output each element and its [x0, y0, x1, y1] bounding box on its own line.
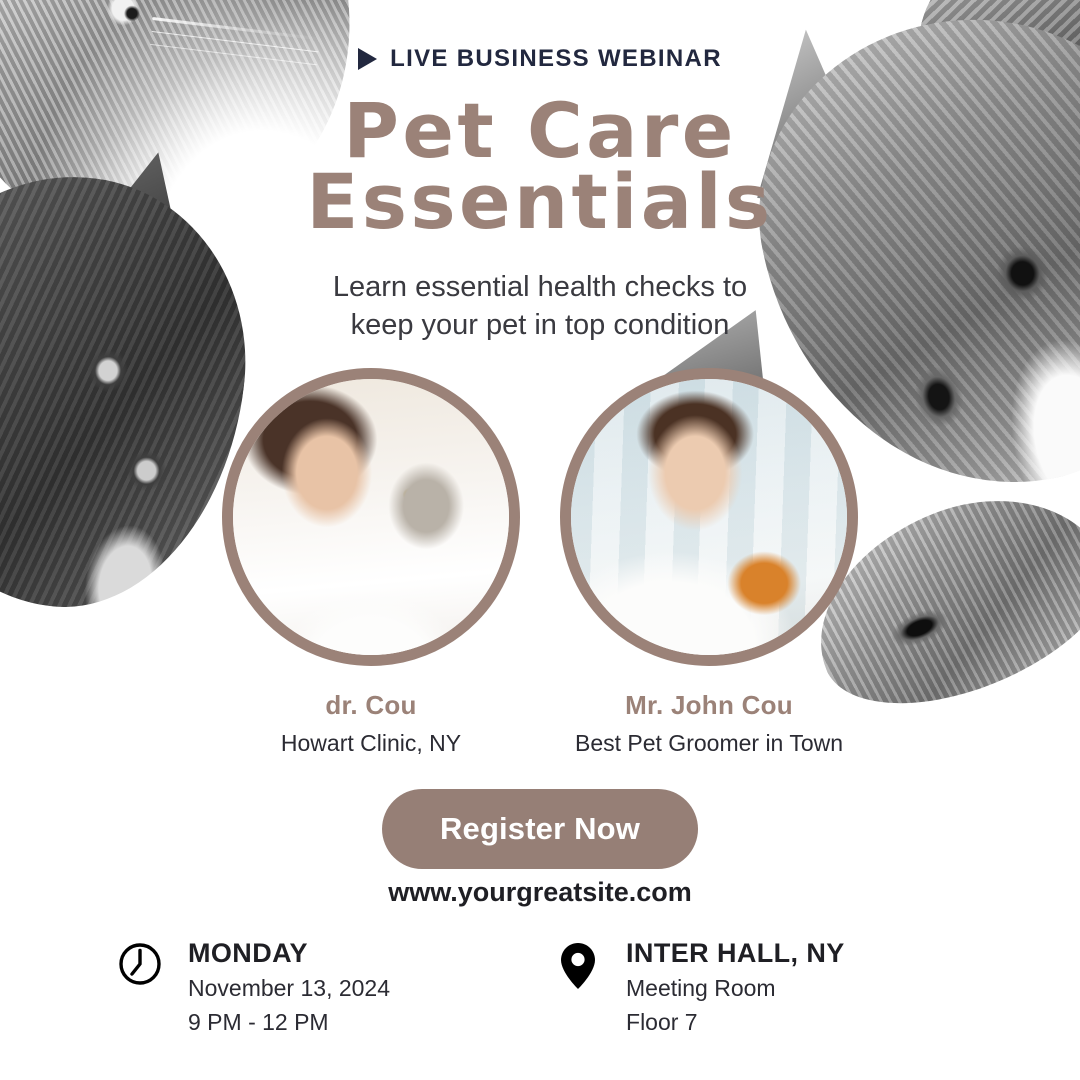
- poster-content: LIVE BUSINESS WEBINAR Pet Care Essential…: [0, 0, 1080, 1080]
- speaker-photo-2: [571, 379, 847, 655]
- subtitle: Learn essential health checks to keep yo…: [0, 268, 1080, 345]
- speaker-role: Best Pet Groomer in Town: [575, 730, 843, 757]
- detail-line-1: November 13, 2024: [188, 974, 390, 1003]
- detail-block-date: MONDAY November 13, 2024 9 PM - 12 PM: [115, 938, 390, 1038]
- speaker-name: dr. Cou: [325, 690, 416, 721]
- detail-heading: MONDAY: [188, 938, 390, 969]
- avatar: [560, 368, 858, 666]
- avatar: [222, 368, 520, 666]
- speaker-card-2: Mr. John Cou Best Pet Groomer in Town: [559, 368, 859, 757]
- title-line-2: Essentials: [306, 157, 773, 246]
- details-row: MONDAY November 13, 2024 9 PM - 12 PM IN…: [0, 938, 1080, 1038]
- speaker-role: Howart Clinic, NY: [281, 730, 461, 757]
- subtitle-line-1: Learn essential health checks to: [333, 271, 747, 303]
- kicker-row: LIVE BUSINESS WEBINAR: [0, 45, 1080, 73]
- speakers-row: dr. Cou Howart Clinic, NY Mr. John Cou B…: [0, 368, 1080, 757]
- register-now-button[interactable]: Register Now: [382, 789, 698, 869]
- detail-text-group: INTER HALL, NY Meeting Room Floor 7: [626, 938, 845, 1038]
- speaker-card-1: dr. Cou Howart Clinic, NY: [221, 368, 521, 757]
- location-pin-icon: [553, 938, 603, 991]
- detail-line-2: Floor 7: [626, 1008, 845, 1037]
- speaker-photo-1: [233, 379, 509, 655]
- clock-icon: [115, 938, 165, 987]
- page-title: Pet Care Essentials: [0, 96, 1080, 237]
- detail-text-group: MONDAY November 13, 2024 9 PM - 12 PM: [188, 938, 390, 1038]
- detail-line-2: 9 PM - 12 PM: [188, 1008, 390, 1037]
- detail-heading: INTER HALL, NY: [626, 938, 845, 969]
- play-triangle-icon: [358, 48, 377, 70]
- speaker-name: Mr. John Cou: [625, 690, 793, 721]
- subtitle-line-2: keep your pet in top condition: [351, 309, 730, 341]
- detail-block-venue: INTER HALL, NY Meeting Room Floor 7: [553, 938, 845, 1038]
- kicker-label: LIVE BUSINESS WEBINAR: [390, 45, 722, 73]
- detail-line-1: Meeting Room: [626, 974, 845, 1003]
- website-url[interactable]: www.yourgreatsite.com: [0, 877, 1080, 908]
